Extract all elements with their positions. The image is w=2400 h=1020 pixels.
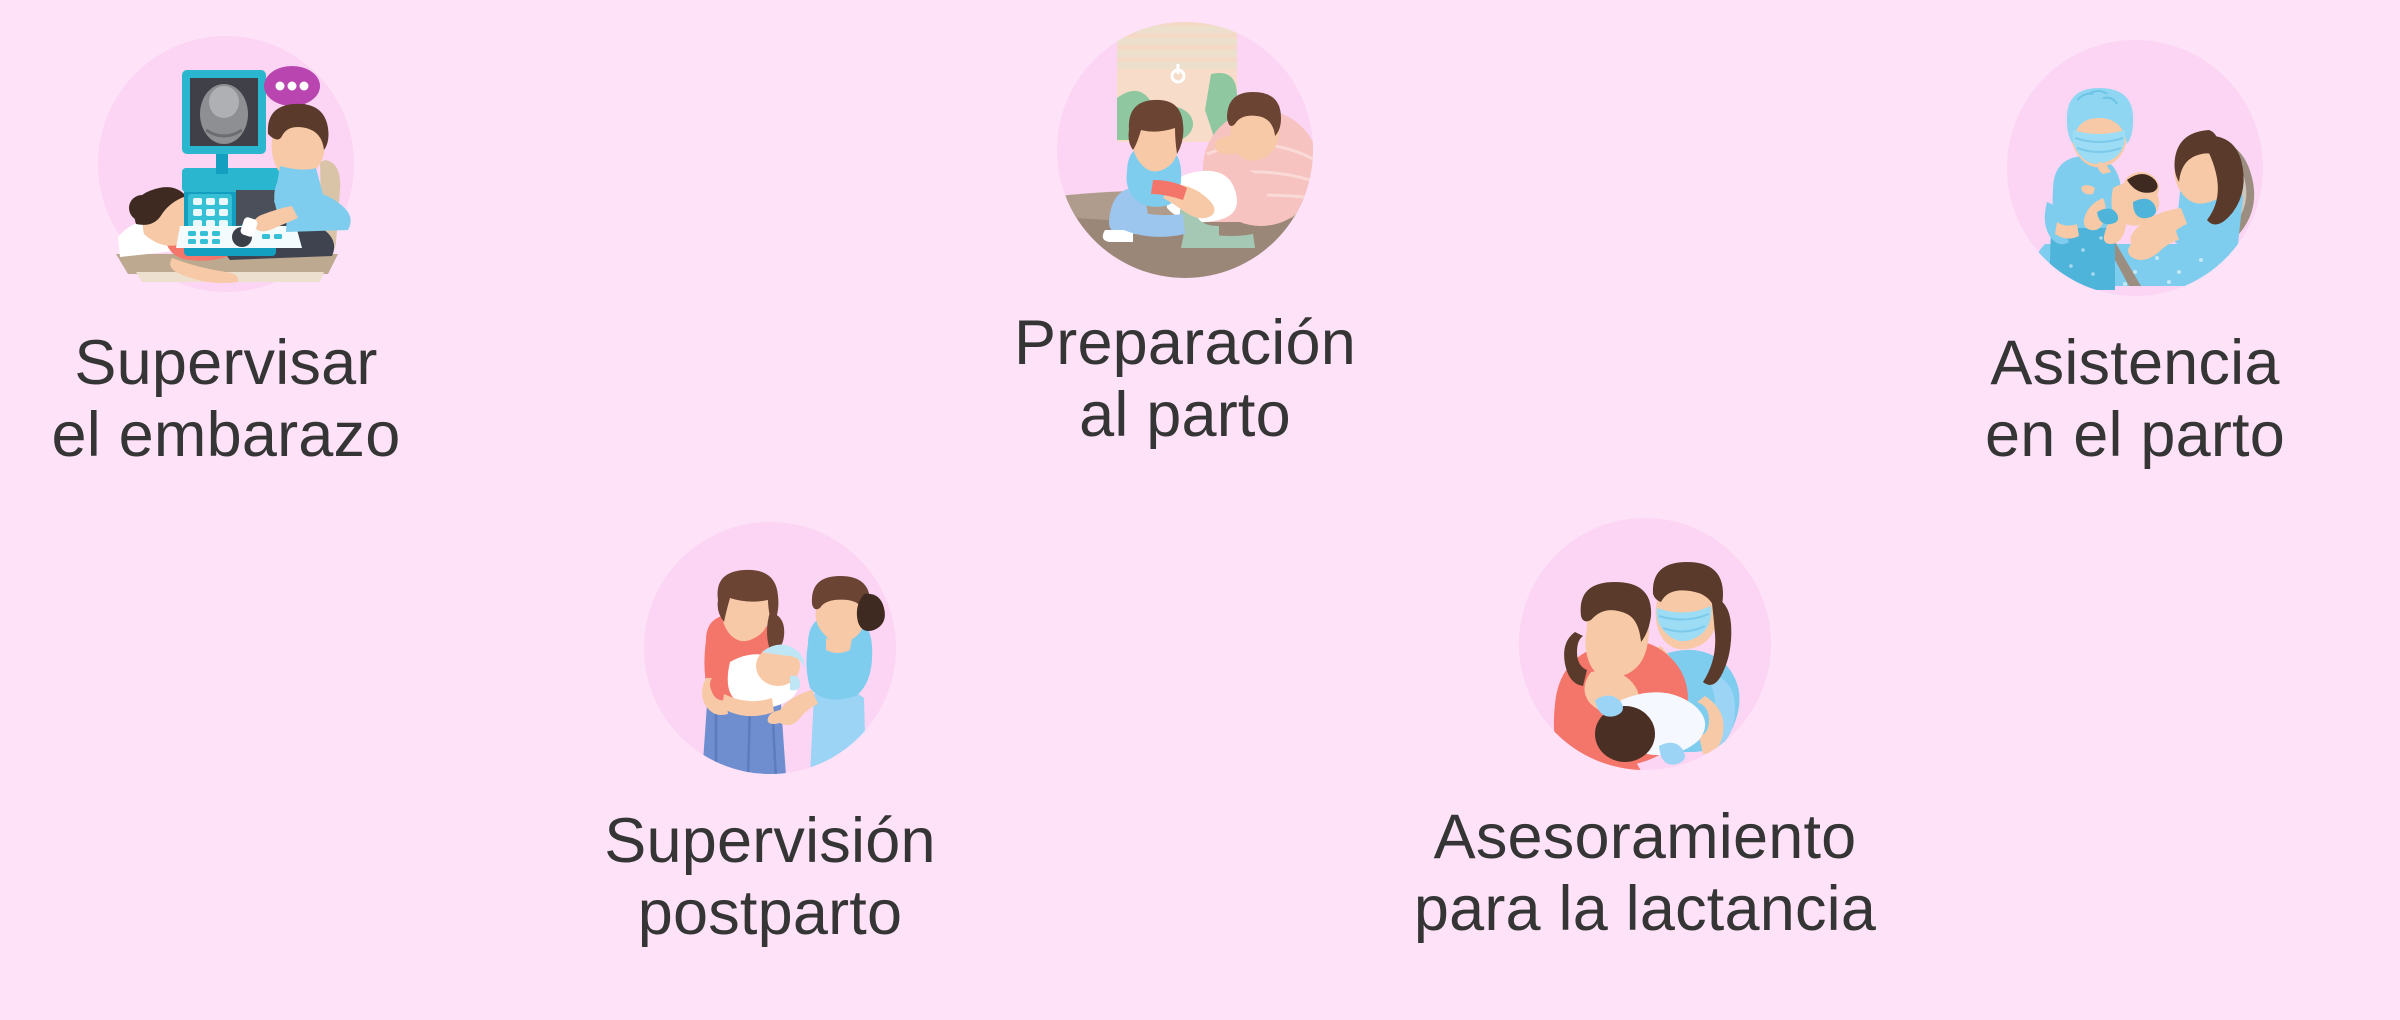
illustration-delivery-assistance — [1985, 22, 2285, 322]
illustration-postpartum-checkup — [620, 500, 920, 800]
service-caption: Asistencia en el parto — [1985, 328, 2285, 472]
service-card-asistencia-en-el-parto[interactable]: Asistencia en el parto — [1920, 22, 2350, 472]
service-card-supervisar-el-embarazo[interactable]: Supervisar el embarazo — [11, 22, 441, 472]
service-card-supervision-postparto[interactable]: Supervisión postparto — [555, 500, 985, 950]
caption-line-2: postparto — [638, 878, 902, 948]
caption-line-1: Asesoramiento — [1434, 802, 1857, 872]
caption-line-2: en el parto — [1985, 400, 2285, 470]
caption-line-1: Supervisar — [74, 328, 377, 398]
service-caption: Supervisión postparto — [604, 806, 935, 950]
caption-line-2: el embarazo — [52, 400, 401, 470]
caption-line-2: al parto — [1079, 380, 1291, 450]
caption-line-1: Asistencia — [1990, 328, 2279, 398]
service-card-preparacion-al-parto[interactable]: Preparación al parto — [970, 2, 1400, 452]
illustration-breastfeeding-counselling — [1495, 496, 1795, 796]
service-card-asesoramiento-para-la-lactancia[interactable]: Asesoramiento para la lactancia — [1430, 496, 1860, 946]
infographic-board: Supervisar el embarazo — [0, 0, 2400, 1020]
service-caption: Preparación al parto — [1014, 308, 1356, 452]
illustration-birth-preparation-exercise-ball — [1035, 2, 1335, 302]
service-caption: Asesoramiento para la lactancia — [1414, 802, 1876, 946]
caption-line-2: para la lactancia — [1414, 874, 1876, 944]
caption-line-1: Preparación — [1014, 308, 1356, 378]
service-caption: Supervisar el embarazo — [52, 328, 401, 472]
illustration-pregnancy-ultrasound-scan — [76, 22, 376, 322]
caption-line-1: Supervisión — [604, 806, 935, 876]
